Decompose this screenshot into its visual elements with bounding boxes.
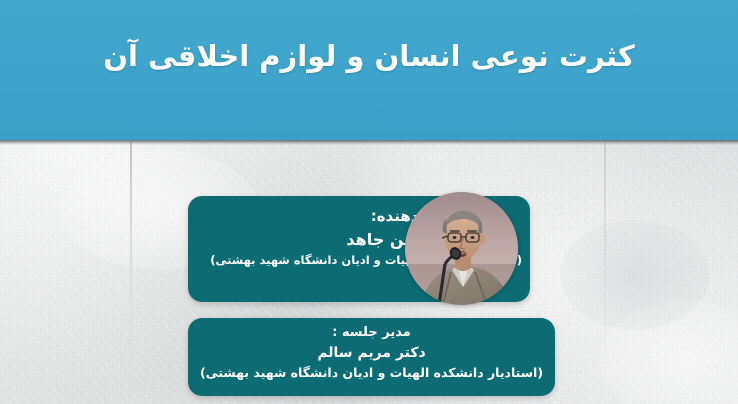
chair-panel-text: مدیر جلسه : دکتر مریم سالم (استادیار دان… bbox=[188, 324, 555, 382]
avatar bbox=[405, 192, 518, 305]
chair-name: دکتر مریم سالم bbox=[198, 343, 545, 364]
header-band-shadow-edge bbox=[0, 140, 738, 145]
seminar-poster: کثرت نوعی انسان و لوازم اخلاقی آن ارائه … bbox=[0, 0, 738, 404]
page-title: کثرت نوعی انسان و لوازم اخلاقی آن bbox=[0, 38, 738, 74]
speaker-photo bbox=[405, 192, 518, 305]
background-seam-line bbox=[130, 142, 132, 404]
background-seam-line bbox=[604, 142, 606, 404]
chair-panel: مدیر جلسه : دکتر مریم سالم (استادیار دان… bbox=[188, 318, 555, 396]
chair-affiliation: (استادیار دانشکده الهیات و ادیان دانشگاه… bbox=[198, 364, 545, 382]
chair-role-label: مدیر جلسه : bbox=[198, 324, 545, 343]
